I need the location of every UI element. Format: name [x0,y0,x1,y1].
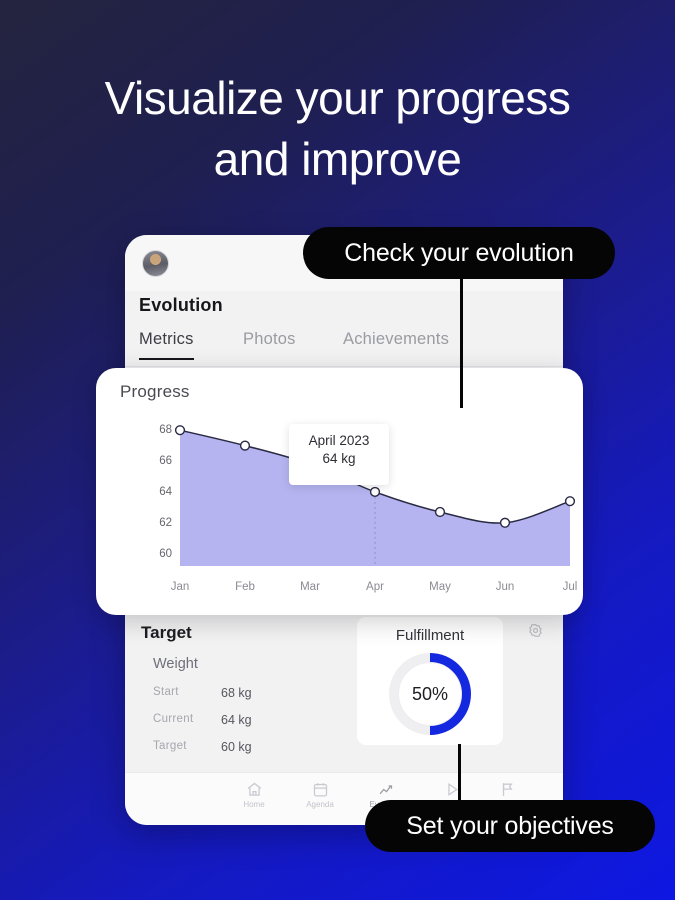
chart-data-point[interactable] [241,441,250,450]
chart-data-point[interactable] [371,488,380,497]
chart-data-point[interactable] [176,426,185,435]
target-row-start-label: Start [153,686,179,698]
play-icon [421,781,483,800]
nav-item-flag[interactable] [477,781,539,800]
calendar-icon [289,781,351,800]
avatar[interactable] [142,250,169,277]
tooltip-period: April 2023 [289,433,389,448]
y-axis-tick: 62 [142,517,172,529]
tab-metrics[interactable]: Metrics [139,330,194,360]
target-row-start-value: 68 kg [221,686,252,700]
target-row-target-value: 60 kg [221,740,252,754]
nav-label-home: Home [243,800,264,809]
nav-label-agenda: Agenda [306,800,334,809]
y-axis-tick: 60 [142,548,172,560]
callout-set-your-objectives: Set your objectives [365,800,655,852]
y-axis-tick: 64 [142,486,172,498]
x-axis-tick: Jul [548,581,592,593]
tab-photos[interactable]: Photos [243,330,296,358]
progress-card: Progress 6866646260 JanFebMarAprMayJunJu… [96,368,583,615]
fulfillment-percent: 50% [398,662,462,726]
target-row-current-value: 64 kg [221,713,252,727]
target-heading: Target [141,623,192,643]
nav-item-agenda[interactable]: Agenda [289,781,351,809]
promo-screenshot: Visualize your progress and improve Evol… [0,0,675,900]
chart-data-point[interactable] [566,497,575,506]
x-axis-tick: Feb [223,581,267,593]
app-screen-title: Evolution [139,295,223,316]
tab-achievements[interactable]: Achievements [343,330,449,358]
tooltip-value: 64 kg [289,451,389,466]
target-metric-label: Weight [153,656,198,672]
home-icon [223,781,285,800]
chart-data-point[interactable] [436,508,445,517]
progress-card-title: Progress [120,382,190,402]
x-axis-tick: Apr [353,581,397,593]
callout-leader-top [460,279,463,408]
fulfillment-donut: 50% [389,653,471,735]
target-row-current-label: Current [153,713,193,725]
callout-leader-bottom [458,744,461,804]
nav-item-home[interactable]: Home [223,781,285,809]
y-axis-tick: 66 [142,455,172,467]
fulfillment-title: Fulfillment [357,627,503,644]
x-axis-tick: Mar [288,581,332,593]
flag-icon [477,781,539,800]
chart-line-icon [355,781,417,800]
target-row-target-label: Target [153,740,187,752]
page-title: Visualize your progress and improve [0,68,675,189]
x-axis-tick: Jun [483,581,527,593]
chart-data-point[interactable] [501,518,510,527]
x-axis-tick: Jan [158,581,202,593]
nav-item-play[interactable] [421,781,483,800]
chart-tooltip: April 2023 64 kg [289,424,389,485]
callout-check-your-evolution: Check your evolution [303,227,615,279]
gear-icon[interactable] [528,623,543,638]
fulfillment-card: Fulfillment 50% [357,617,503,745]
x-axis-tick: May [418,581,462,593]
y-axis-tick: 68 [142,424,172,436]
tab-bar: Metrics Photos Achievements [125,330,563,367]
